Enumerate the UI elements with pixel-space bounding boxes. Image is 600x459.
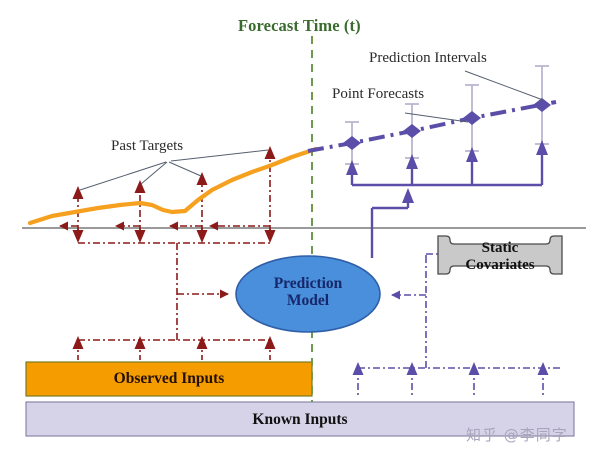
past-targets-leaders: [80, 150, 268, 190]
observed-inputs-label: Observed Inputs: [26, 370, 312, 387]
prediction-interval-whiskers: [345, 66, 549, 164]
point-forecast-markers: [343, 98, 551, 150]
prediction-intervals-label: Prediction Intervals: [369, 50, 487, 67]
prediction-model-label: Prediction Model: [247, 275, 369, 310]
diagram-graphics: [0, 0, 600, 459]
past-target-down-arrows: [78, 228, 270, 238]
diagram-canvas: Forecast Time (t) Prediction Intervals P…: [0, 0, 600, 459]
past-targets-curve: [30, 149, 316, 223]
forecast-output-arrowheads: [346, 140, 548, 203]
past-targets-label: Past Targets: [111, 138, 183, 155]
past-target-down-arrowheads: [73, 230, 276, 243]
point-forecasts-label: Point Forecasts: [332, 86, 424, 103]
forecast-time-label: Forecast Time (t): [238, 17, 361, 35]
static-covariates-label: Static Covariates: [441, 240, 559, 274]
past-target-up-arrows: [78, 156, 270, 232]
watermark: 知乎 @李同字: [466, 424, 568, 445]
known-input-bus: [358, 254, 560, 398]
observed-input-arrowheads: [73, 336, 276, 349]
